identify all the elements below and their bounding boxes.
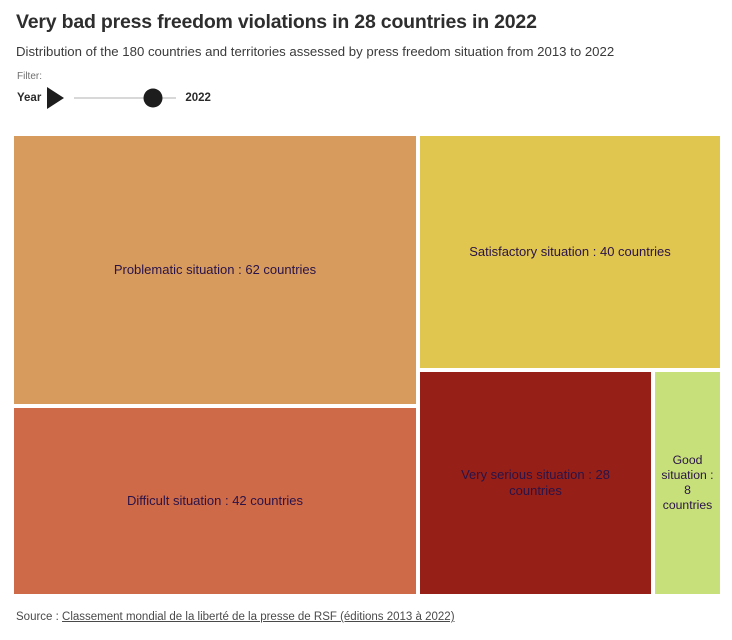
treemap-tile-good-situation[interactable]: Good situation : 8 countries	[655, 372, 720, 594]
year-slider-label: Year	[17, 93, 41, 105]
filter-caption: Filter:	[17, 71, 718, 82]
source-prefix: Source :	[16, 611, 62, 623]
play-icon[interactable]	[47, 87, 64, 109]
treemap-chart: Problematic situation : 62 countries Dif…	[14, 136, 720, 594]
year-slider[interactable]	[74, 88, 176, 108]
treemap-tile-difficult-situation[interactable]: Difficult situation : 42 countries	[14, 408, 416, 594]
chart-page: Very bad press freedom violations in 28 …	[0, 0, 732, 640]
page-subtitle: Distribution of the 180 countries and te…	[16, 44, 718, 60]
treemap-tile-label: Problematic situation : 62 countries	[108, 262, 322, 278]
year-slider-value: 2022	[185, 93, 211, 105]
source-link[interactable]: Classement mondial de la liberté de la p…	[62, 611, 455, 623]
year-filter: Filter: Year 2022	[17, 71, 718, 109]
treemap-tile-label: Satisfactory situation : 40 countries	[463, 244, 677, 260]
treemap-tile-label: Good situation : 8 countries	[656, 453, 720, 514]
treemap-tile-very-serious-situation[interactable]: Very serious situation : 28 countries	[420, 372, 651, 594]
treemap-tile-label: Difficult situation : 42 countries	[121, 493, 309, 509]
page-title: Very bad press freedom violations in 28 …	[16, 11, 718, 33]
year-slider-row: Year 2022	[17, 87, 718, 109]
chart-header: Very bad press freedom violations in 28 …	[0, 0, 732, 109]
treemap-tile-problematic-situation[interactable]: Problematic situation : 62 countries	[14, 136, 416, 404]
treemap-tile-label: Very serious situation : 28 countries	[437, 467, 634, 499]
treemap-tile-satisfactory-situation[interactable]: Satisfactory situation : 40 countries	[420, 136, 720, 368]
source-note: Source : Classement mondial de la libert…	[16, 611, 455, 625]
slider-handle[interactable]	[144, 89, 163, 108]
